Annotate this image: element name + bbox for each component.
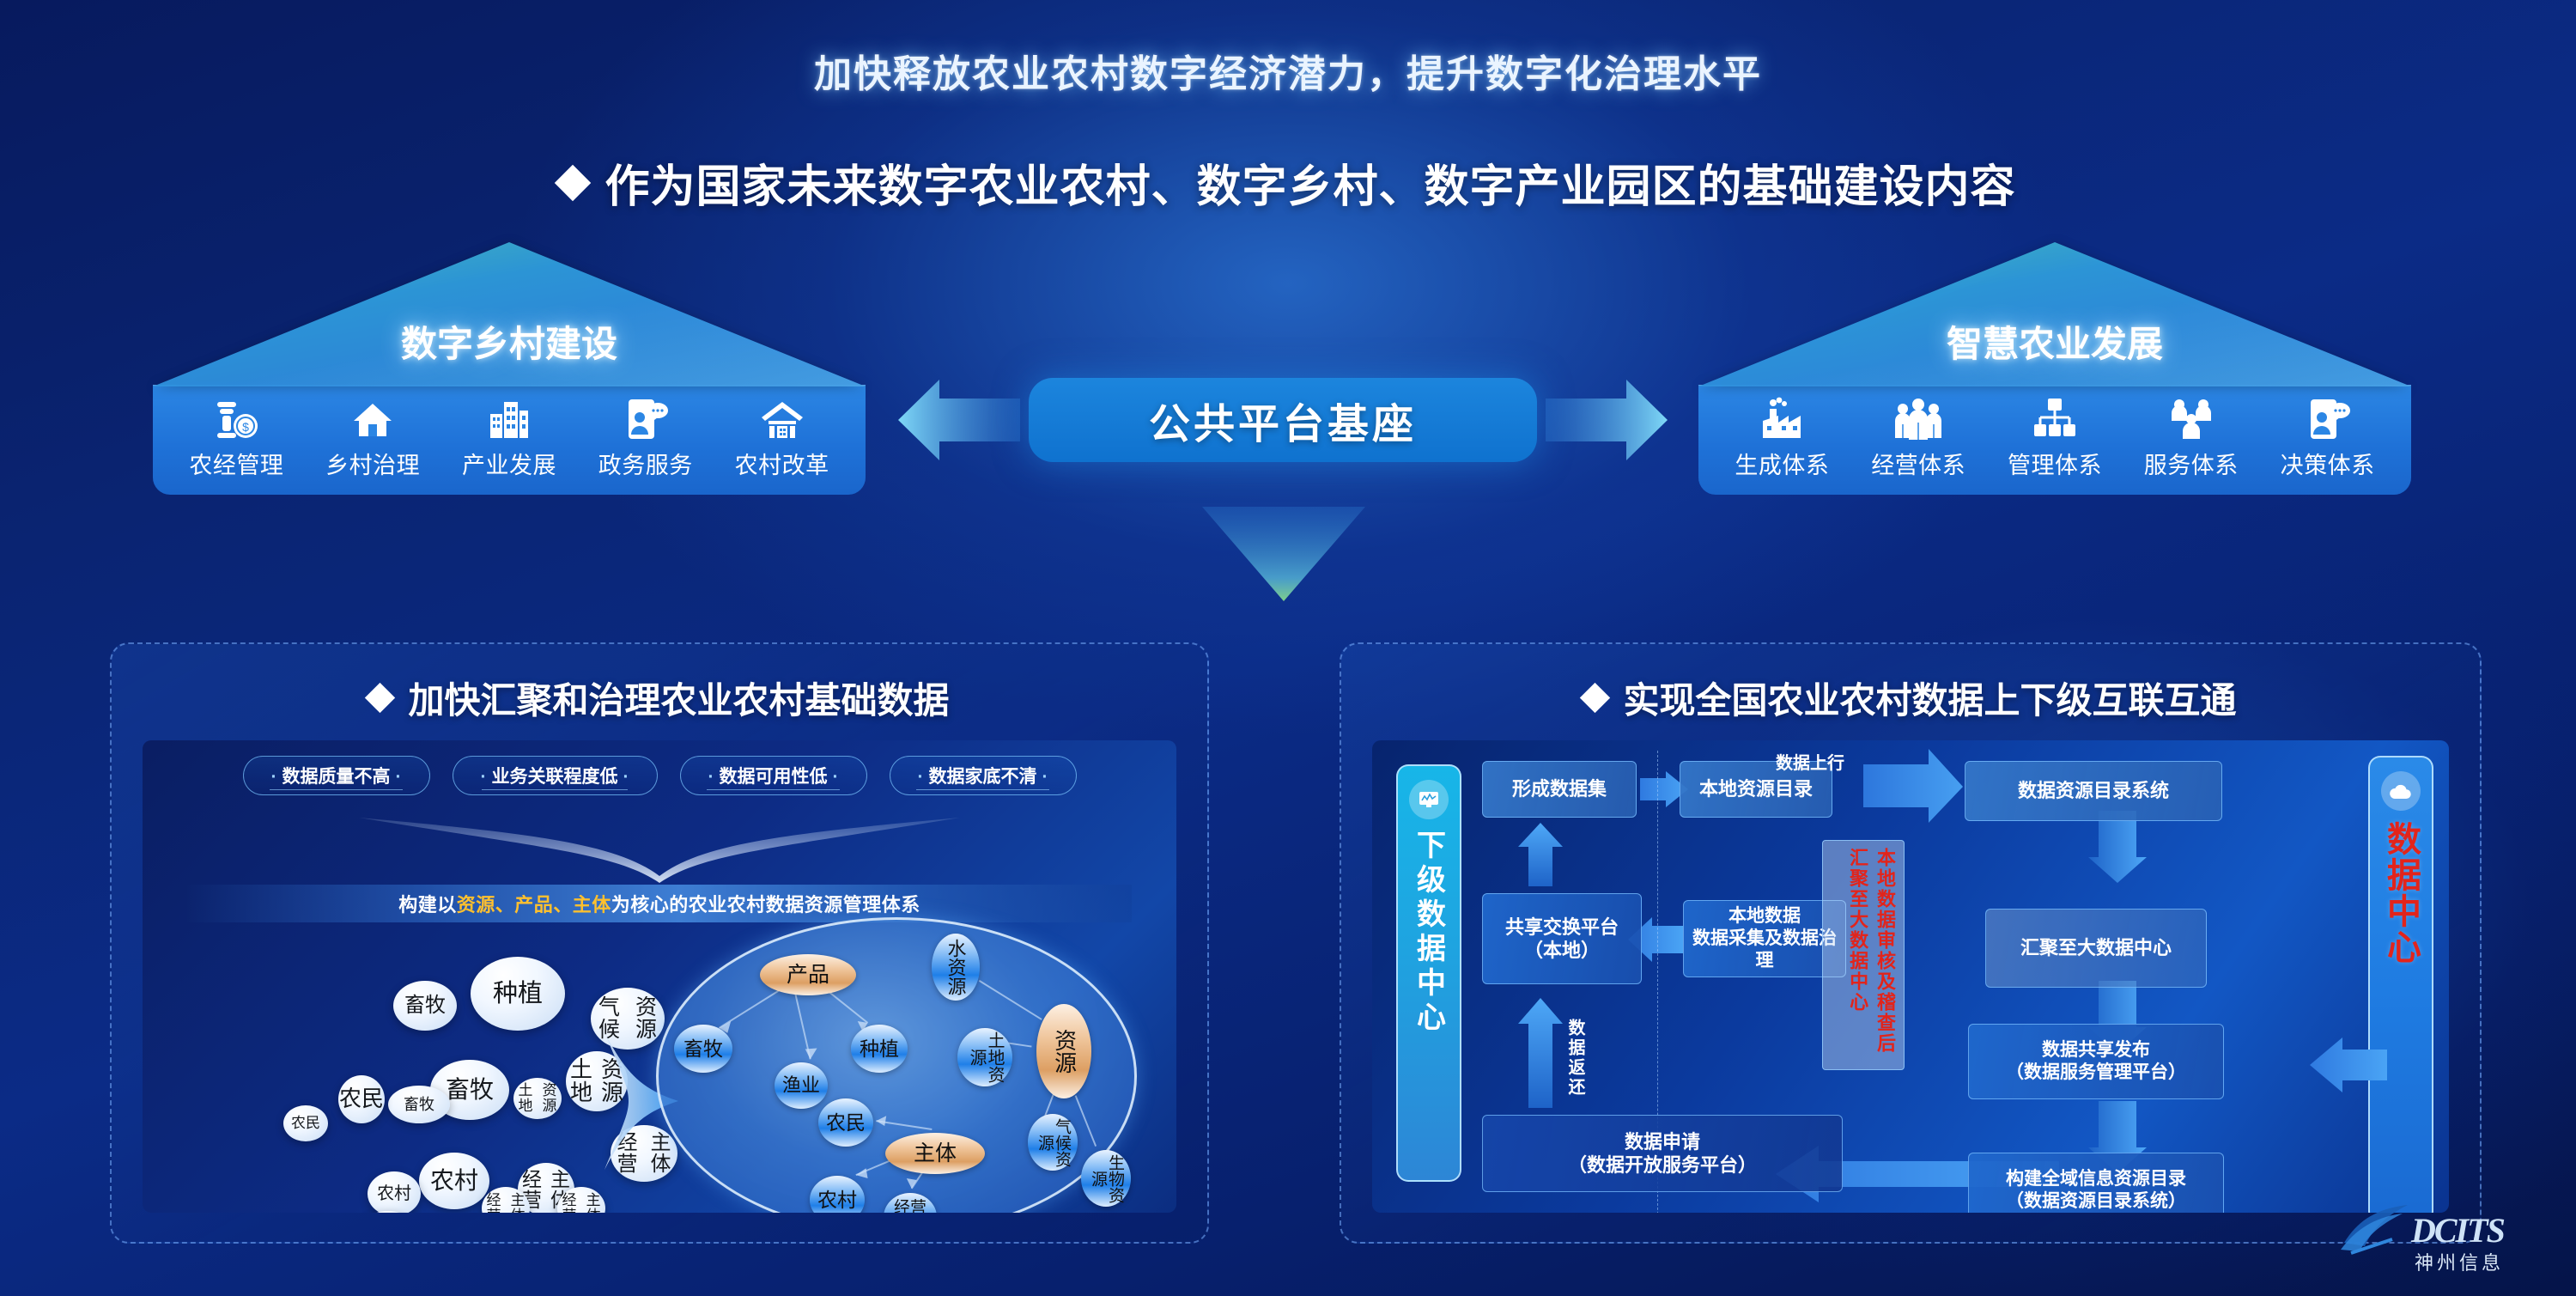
core-node-list: 产品水资源资源畜牧种植土地资源渔业农民主体气候资源生物资源农村经营主体 (659, 920, 1134, 1213)
house-item-label: 决策体系 (2281, 447, 2375, 480)
page-title: 加快释放农业农村数字经济潜力，提升数字化治理水平 (0, 43, 2576, 98)
flow-box-data-apply[interactable]: 数据申请（数据开放服务平台） (1482, 1115, 1843, 1192)
flow-box-line: 数据采集及数据治理 (1691, 928, 1838, 973)
label-data-upload: 数据上行 (1776, 749, 1844, 774)
house-item-label: 农村改革 (735, 447, 829, 480)
chaos-bubble: 畜牧 (388, 1086, 450, 1123)
core-node: 农村 (810, 1176, 865, 1213)
buildings-icon (485, 395, 533, 443)
flow-box-line: （数据资源目录系统） (2006, 1190, 2186, 1213)
core-node: 水资源 (932, 934, 980, 1001)
arrow-down-icon (1202, 507, 1365, 601)
house-digital-village: 数字乡村建设 $农经管理乡村治理产业发展政务服务农村改革 (153, 242, 866, 495)
flow-box-line: 汇聚至大数据中心 (2020, 936, 2172, 960)
core-node: 经营主体 (884, 1193, 937, 1213)
flow-box-catalog-system[interactable]: 数据资源目录系统 (1965, 761, 2222, 821)
core-system-banner: 构建以 资源、产品、主体 为核心的农业农村数据资源管理体系 (187, 885, 1132, 922)
pill-underline (482, 789, 629, 790)
chaos-bubble: 农村 (368, 1171, 421, 1213)
pill-underline (270, 789, 404, 790)
house-base-left: $农经管理乡村治理产业发展政务服务农村改革 (153, 385, 866, 495)
brand-logo: DCITS 神州信息 (2339, 1181, 2554, 1284)
house-item-label: 产业发展 (462, 447, 556, 480)
issue-pill: 数据家底不清 (890, 756, 1077, 795)
core-node: 资源 (1036, 1004, 1091, 1098)
issue-pill-list: 数据质量不高业务关联程度低数据可用性低数据家底不清 (143, 756, 1176, 795)
flow-box-line: 形成数据集 (1512, 777, 1607, 801)
flow-box-line: （本地） (1524, 939, 1600, 963)
house-item[interactable]: 决策体系 (2276, 395, 2379, 480)
logo-mark-icon (2339, 1203, 2413, 1256)
house-item-label: 管理体系 (2008, 447, 2102, 480)
panel-left-heading-text: 加快汇聚和治理农业农村基础数据 (408, 672, 949, 724)
chaos-bubble: 农民 (283, 1105, 328, 1141)
house-item[interactable]: 管理体系 (2003, 395, 2106, 480)
house-item[interactable]: 经营体系 (1867, 395, 1970, 480)
flow-box-line: （数据开放服务平台） (1568, 1153, 1757, 1177)
flow-box-line: 本地资源目录 (1699, 777, 1813, 801)
core-node: 农民 (818, 1098, 873, 1147)
house-smart-agriculture: 智慧农业发展 生成体系经营体系管理体系服务体系决策体系 (1698, 242, 2411, 495)
factory-icon (1758, 395, 1806, 443)
flow-box-share-exchange[interactable]: 共享交换平台（本地） (1482, 893, 1642, 984)
house-item-label: 服务体系 (2144, 447, 2239, 480)
house-item-label: 生成体系 (1735, 447, 1829, 480)
roof-label-right: 智慧农业发展 (1698, 315, 2411, 368)
people-group-icon (1894, 395, 1942, 443)
diamond-bullet-icon (1580, 683, 1610, 713)
mobile-decision-icon (2304, 395, 2352, 443)
issue-pill: 数据质量不高 (243, 756, 430, 795)
house-item[interactable]: 生成体系 (1730, 395, 1833, 480)
house-item-label: 经营体系 (1871, 447, 1965, 480)
core-data-ellipse: 产品水资源资源畜牧种植土地资源渔业农民主体气候资源生物资源农村经营主体 (656, 917, 1137, 1213)
core-node: 土地资源 (957, 1028, 1012, 1086)
chaos-bubble: 农村 (419, 1153, 489, 1209)
flow-box-line: 数据资源目录系统 (2018, 779, 2169, 803)
slide-root: 加快释放农业农村数字经济潜力，提升数字化治理水平 作为国家未来数字农业农村、数字… (0, 0, 2576, 1296)
pill-underline (916, 789, 1050, 790)
house-item[interactable]: 乡村治理 (321, 395, 424, 480)
panel-right-canvas: 下级数据中心 数据中心 (1372, 740, 2449, 1213)
sidebar-lower-label: 下级数据中心 (1408, 830, 1450, 1036)
house-item-label: 政务服务 (598, 447, 693, 480)
label-data-return: 数据返还 (1563, 1019, 1588, 1098)
house-item-label: 农经管理 (189, 447, 283, 480)
core-node: 生物资源 (1081, 1150, 1131, 1207)
flow-box-data-publish[interactable]: 数据共享发布（数据服务管理平台） (1968, 1024, 2224, 1099)
chaos-bubble: 畜牧 (393, 981, 457, 1031)
service-people-icon (2167, 395, 2215, 443)
banner-highlight: 资源、产品、主体 (457, 890, 611, 917)
monitor-chart-icon (1409, 780, 1449, 819)
roof-shape: 智慧农业发展 (1698, 242, 2411, 386)
logo-chinese: 神州信息 (2415, 1248, 2504, 1275)
core-node: 渔业 (775, 1062, 828, 1109)
house-item[interactable]: $农经管理 (185, 395, 288, 480)
flow-box-line: 本地数据 (1728, 905, 1801, 928)
flow-box-line: 构建全域信息资源目录 (2006, 1168, 2186, 1190)
mobile-service-icon (622, 395, 670, 443)
house-base-right: 生成体系经营体系管理体系服务体系决策体系 (1698, 385, 2411, 495)
core-node: 种植 (851, 1025, 908, 1073)
sidebar-lower-data-center: 下级数据中心 (1396, 764, 1461, 1182)
house-item[interactable]: 产业发展 (458, 395, 561, 480)
banner-prefix: 构建以 (398, 890, 457, 917)
arrow-left-icon (898, 380, 1020, 460)
roof-label-left: 数字乡村建设 (153, 315, 866, 368)
roof-shape: 数字乡村建设 (153, 242, 866, 386)
chaos-bubble: 农民 (338, 1075, 385, 1123)
public-platform-base: 公共平台基座 (1029, 378, 1537, 462)
page-subtitle: 作为国家未来数字农业农村、数字乡村、数字产业园区的基础建设内容 (0, 150, 2576, 215)
core-node: 产品 (760, 954, 856, 995)
issue-pill: 数据可用性低 (680, 756, 867, 795)
panel-left-heading: 加快汇聚和治理农业农村基础数据 (112, 672, 1207, 724)
core-node: 主体 (885, 1133, 985, 1174)
house-item[interactable]: 政务服务 (594, 395, 697, 480)
village-house-icon (758, 395, 806, 443)
chaos-bubble: 种植 (471, 957, 565, 1031)
core-node: 畜牧 (674, 1025, 732, 1073)
arrow-right-icon (1546, 380, 1668, 460)
panel-right-heading: 实现全国农业农村数据上下级互联互通 (1341, 672, 2480, 724)
flow-box-line: 共享交换平台 (1505, 916, 1619, 940)
flow-box-global-catalog[interactable]: 构建全域信息资源目录（数据资源目录系统） (1968, 1153, 2224, 1213)
panel-left-canvas: 数据质量不高业务关联程度低数据可用性低数据家底不清 构建以 资源、产品、主体 为… (143, 740, 1176, 1213)
flow-box-gather-bigdata[interactable]: 汇聚至大数据中心 (1985, 909, 2207, 988)
pill-underline (707, 789, 841, 790)
chaotic-bubble-cloud: 畜牧种植气候资源土地资源畜牧土地资源畜牧农民农民经营主体农村农村经营主体经营主体… (143, 938, 658, 1213)
funnel-icon (359, 812, 960, 883)
money-stack-icon: $ (212, 395, 260, 443)
core-node: 气候资源 (1028, 1114, 1078, 1171)
page-subtitle-text: 作为国家未来数字农业农村、数字乡村、数字产业园区的基础建设内容 (605, 150, 2015, 215)
panel-data-governance: 加快汇聚和治理农业农村基础数据 数据质量不高业务关联程度低数据可用性低数据家底不… (110, 642, 1209, 1244)
panel-right-heading-text: 实现全国农业农村数据上下级互联互通 (1623, 672, 2236, 724)
banner-suffix: 为核心的农业农村数据资源管理体系 (611, 890, 920, 917)
house-item-label: 乡村治理 (325, 447, 420, 480)
house-item[interactable]: 服务体系 (2140, 395, 2243, 480)
issue-pill: 业务关联程度低 (453, 756, 658, 795)
chaos-bubble: 土地资源 (513, 1078, 562, 1119)
svg-text:$: $ (242, 420, 249, 434)
flow-box-line: 数据申请 (1625, 1130, 1700, 1154)
platform-label: 公共平台基座 (1149, 390, 1417, 450)
diamond-bullet-icon (555, 164, 591, 200)
house-item[interactable]: 农村改革 (731, 395, 834, 480)
flow-box-line: 数据共享发布 (2042, 1039, 2150, 1062)
flow-box-line: （数据服务管理平台） (2006, 1062, 2186, 1084)
panel-data-interconnect: 实现全国农业农村数据上下级互联互通 下级数据中心 (1340, 642, 2482, 1244)
org-chart-icon (2031, 395, 2079, 443)
flow-box-form-dataset[interactable]: 形成数据集 (1482, 761, 1637, 818)
home-icon (349, 395, 397, 443)
logo-wordmark: DCITS (2411, 1210, 2504, 1250)
diamond-bullet-icon (365, 683, 395, 713)
red-note-audit: 本地数据审核及稽查后汇聚至大数据中心 (1822, 840, 1905, 1070)
